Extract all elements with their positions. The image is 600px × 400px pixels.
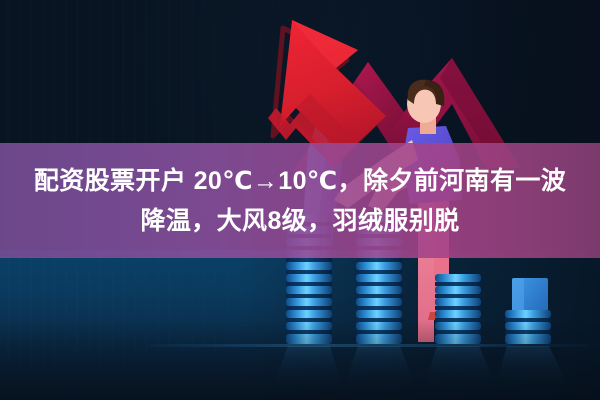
- bottom-vignette: [0, 320, 600, 400]
- caption-line-2: 降温，大风8级，羽绒服别脱: [140, 201, 459, 241]
- caption-line-1: 配资股票开户 20℃→10℃，除夕前河南有一波: [34, 161, 566, 201]
- caption-band: 配资股票开户 20℃→10℃，除夕前河南有一波 降温，大风8级，羽绒服别脱: [0, 143, 600, 258]
- banner-image: 配资股票开户 20℃→10℃，除夕前河南有一波 降温，大风8级，羽绒服别脱: [0, 0, 600, 400]
